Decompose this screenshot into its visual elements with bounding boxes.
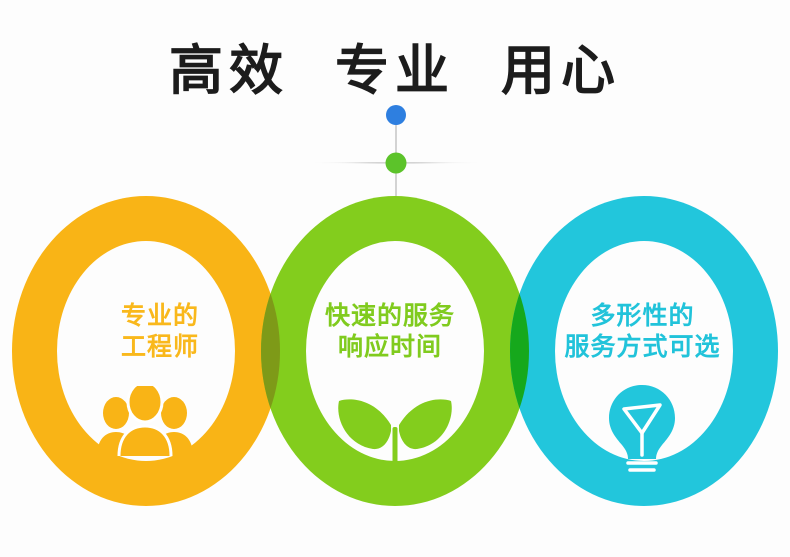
headline-word-3: 用心 — [501, 26, 621, 105]
circle-label-orange: 专业的 工程师 — [60, 300, 260, 363]
circle-label-cyan: 多形性的 服务方式可选 — [530, 300, 755, 363]
headline-word-2: 专业 — [335, 26, 455, 105]
sprout-icon — [333, 383, 457, 471]
infographic-canvas: 高效专业用心 — [0, 0, 790, 557]
horizontal-rule — [336, 162, 456, 164]
people-icon — [93, 386, 197, 456]
lightbulb-icon — [600, 383, 684, 475]
circle-label-cyan-line-2: 服务方式可选 — [530, 331, 755, 362]
horizontal-rule-wide — [306, 162, 486, 163]
circle-label-green: 快速的服务 响应时间 — [285, 300, 495, 363]
circle-label-cyan-line-1: 多形性的 — [530, 300, 755, 331]
blue-dot-icon — [386, 105, 406, 125]
circle-label-green-line-1: 快速的服务 — [285, 300, 495, 331]
circle-label-orange-line-2: 工程师 — [60, 331, 260, 362]
circle-label-orange-line-1: 专业的 — [60, 300, 260, 331]
circle-label-green-line-2: 响应时间 — [285, 331, 495, 362]
green-dot-icon — [386, 153, 407, 174]
headline-word-1: 高效 — [169, 26, 289, 105]
page-title: 高效专业用心 — [0, 26, 790, 105]
